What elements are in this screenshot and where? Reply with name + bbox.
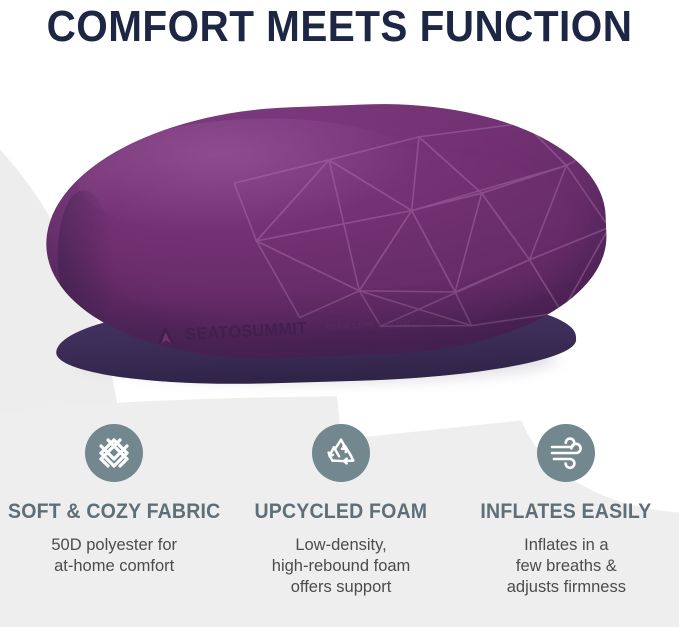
page-title: COMFORT MEETS FUNCTION (27, 2, 652, 52)
product-model-name: FOAM CORE PILLOW (325, 318, 410, 331)
feature-list: SOFT & COZY FABRIC 50D polyester for at-… (0, 424, 679, 598)
product-marketing-image: COMFORT MEETS FUNCTION (0, 0, 679, 627)
feature-description-line: high-rebound foam (272, 556, 411, 577)
feature-title: INFLATES EASILY (481, 500, 652, 524)
product-badge-icon (422, 316, 438, 327)
feature-title: UPCYCLED FOAM (255, 500, 428, 524)
feature-description-line: few breaths & (507, 556, 626, 577)
feature-title: SOFT & COZY FABRIC (8, 500, 220, 524)
feature-item-foam: UPCYCLED FOAM Low-density, high-rebound … (228, 424, 453, 598)
recycle-icon (312, 424, 370, 482)
feature-description-line: 50D polyester for (51, 535, 177, 556)
feature-description-line: offers support (272, 577, 411, 598)
feature-item-fabric: SOFT & COZY FABRIC 50D polyester for at-… (0, 424, 228, 598)
woven-fabric-icon (85, 424, 143, 482)
mountain-wave-icon (156, 324, 176, 346)
feature-description: Inflates in a few breaths & adjusts firm… (507, 535, 626, 598)
feature-description: 50D polyester for at-home comfort (51, 535, 177, 577)
feature-description-line: adjusts firmness (507, 577, 626, 598)
product-image-pillow: SEATOSUMMIT FOAM CORE PILLOW (38, 104, 618, 394)
feature-description-line: Inflates in a (507, 535, 626, 556)
feature-item-inflation: INFLATES EASILY Inflates in a few breath… (454, 424, 679, 598)
wind-breath-icon (537, 424, 595, 482)
feature-description-line: Low-density, (272, 535, 411, 556)
feature-description-line: at-home comfort (51, 556, 177, 577)
feature-description: Low-density, high-rebound foam offers su… (272, 535, 411, 598)
